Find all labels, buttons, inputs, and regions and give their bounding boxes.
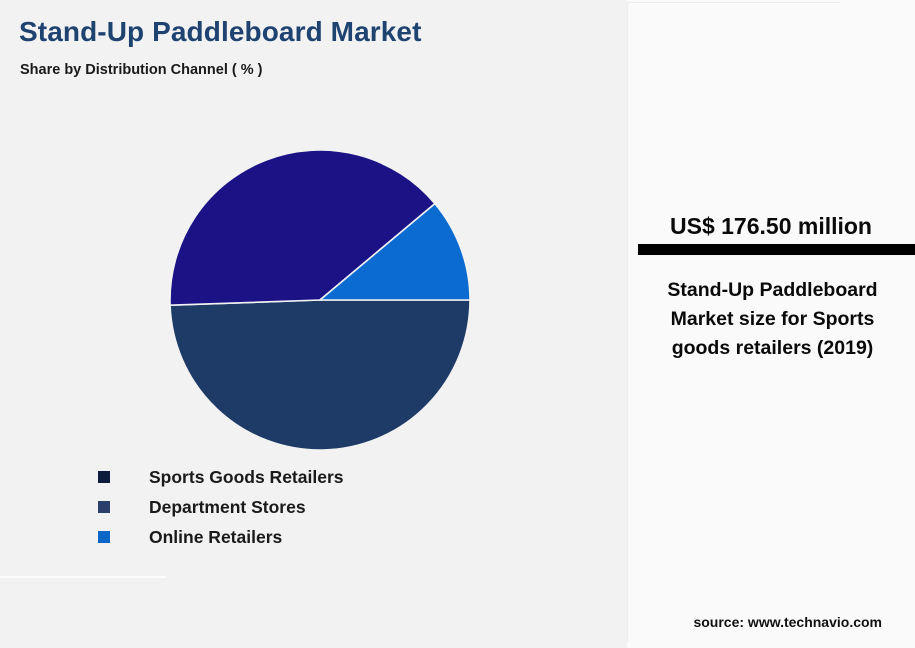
legend-item-label: Online Retailers: [149, 527, 282, 548]
legend-item-department-stores[interactable]: Department Stores: [98, 492, 558, 522]
legend-item-online-retailers[interactable]: Online Retailers: [98, 522, 558, 552]
pie-slice[interactable]: [170, 300, 470, 450]
legend-swatch-icon: [98, 501, 110, 513]
callout-value: US$ 176.50 million: [627, 213, 915, 240]
callout-underline-bar: [638, 244, 915, 255]
pie-chart-svg: [170, 150, 470, 450]
legend-item-label: Department Stores: [149, 497, 306, 518]
chart-infographic: Stand-Up Paddleboard Market Share by Dis…: [0, 0, 915, 648]
chart-subtitle: Share by Distribution Channel ( % ): [20, 62, 263, 78]
legend-swatch-icon: [98, 471, 110, 483]
callout-description: Stand-Up Paddleboard Market size for Spo…: [655, 276, 890, 363]
page-title: Stand-Up Paddleboard Market: [19, 16, 422, 48]
footer-divider: [0, 576, 166, 578]
legend-item-sports-goods-retailers[interactable]: Sports Goods Retailers: [98, 462, 558, 492]
source-attribution: source: www.technavio.com: [693, 614, 882, 630]
chart-legend: Sports Goods Retailers Department Stores…: [98, 462, 558, 552]
legend-swatch-icon: [98, 531, 110, 543]
callout-panel-left-border: [627, 2, 628, 642]
legend-item-label: Sports Goods Retailers: [149, 467, 344, 488]
chart-panel: Stand-Up Paddleboard Market Share by Dis…: [0, 0, 627, 648]
pie-chart: [170, 150, 470, 450]
callout-panel-top-border: [628, 2, 840, 3]
